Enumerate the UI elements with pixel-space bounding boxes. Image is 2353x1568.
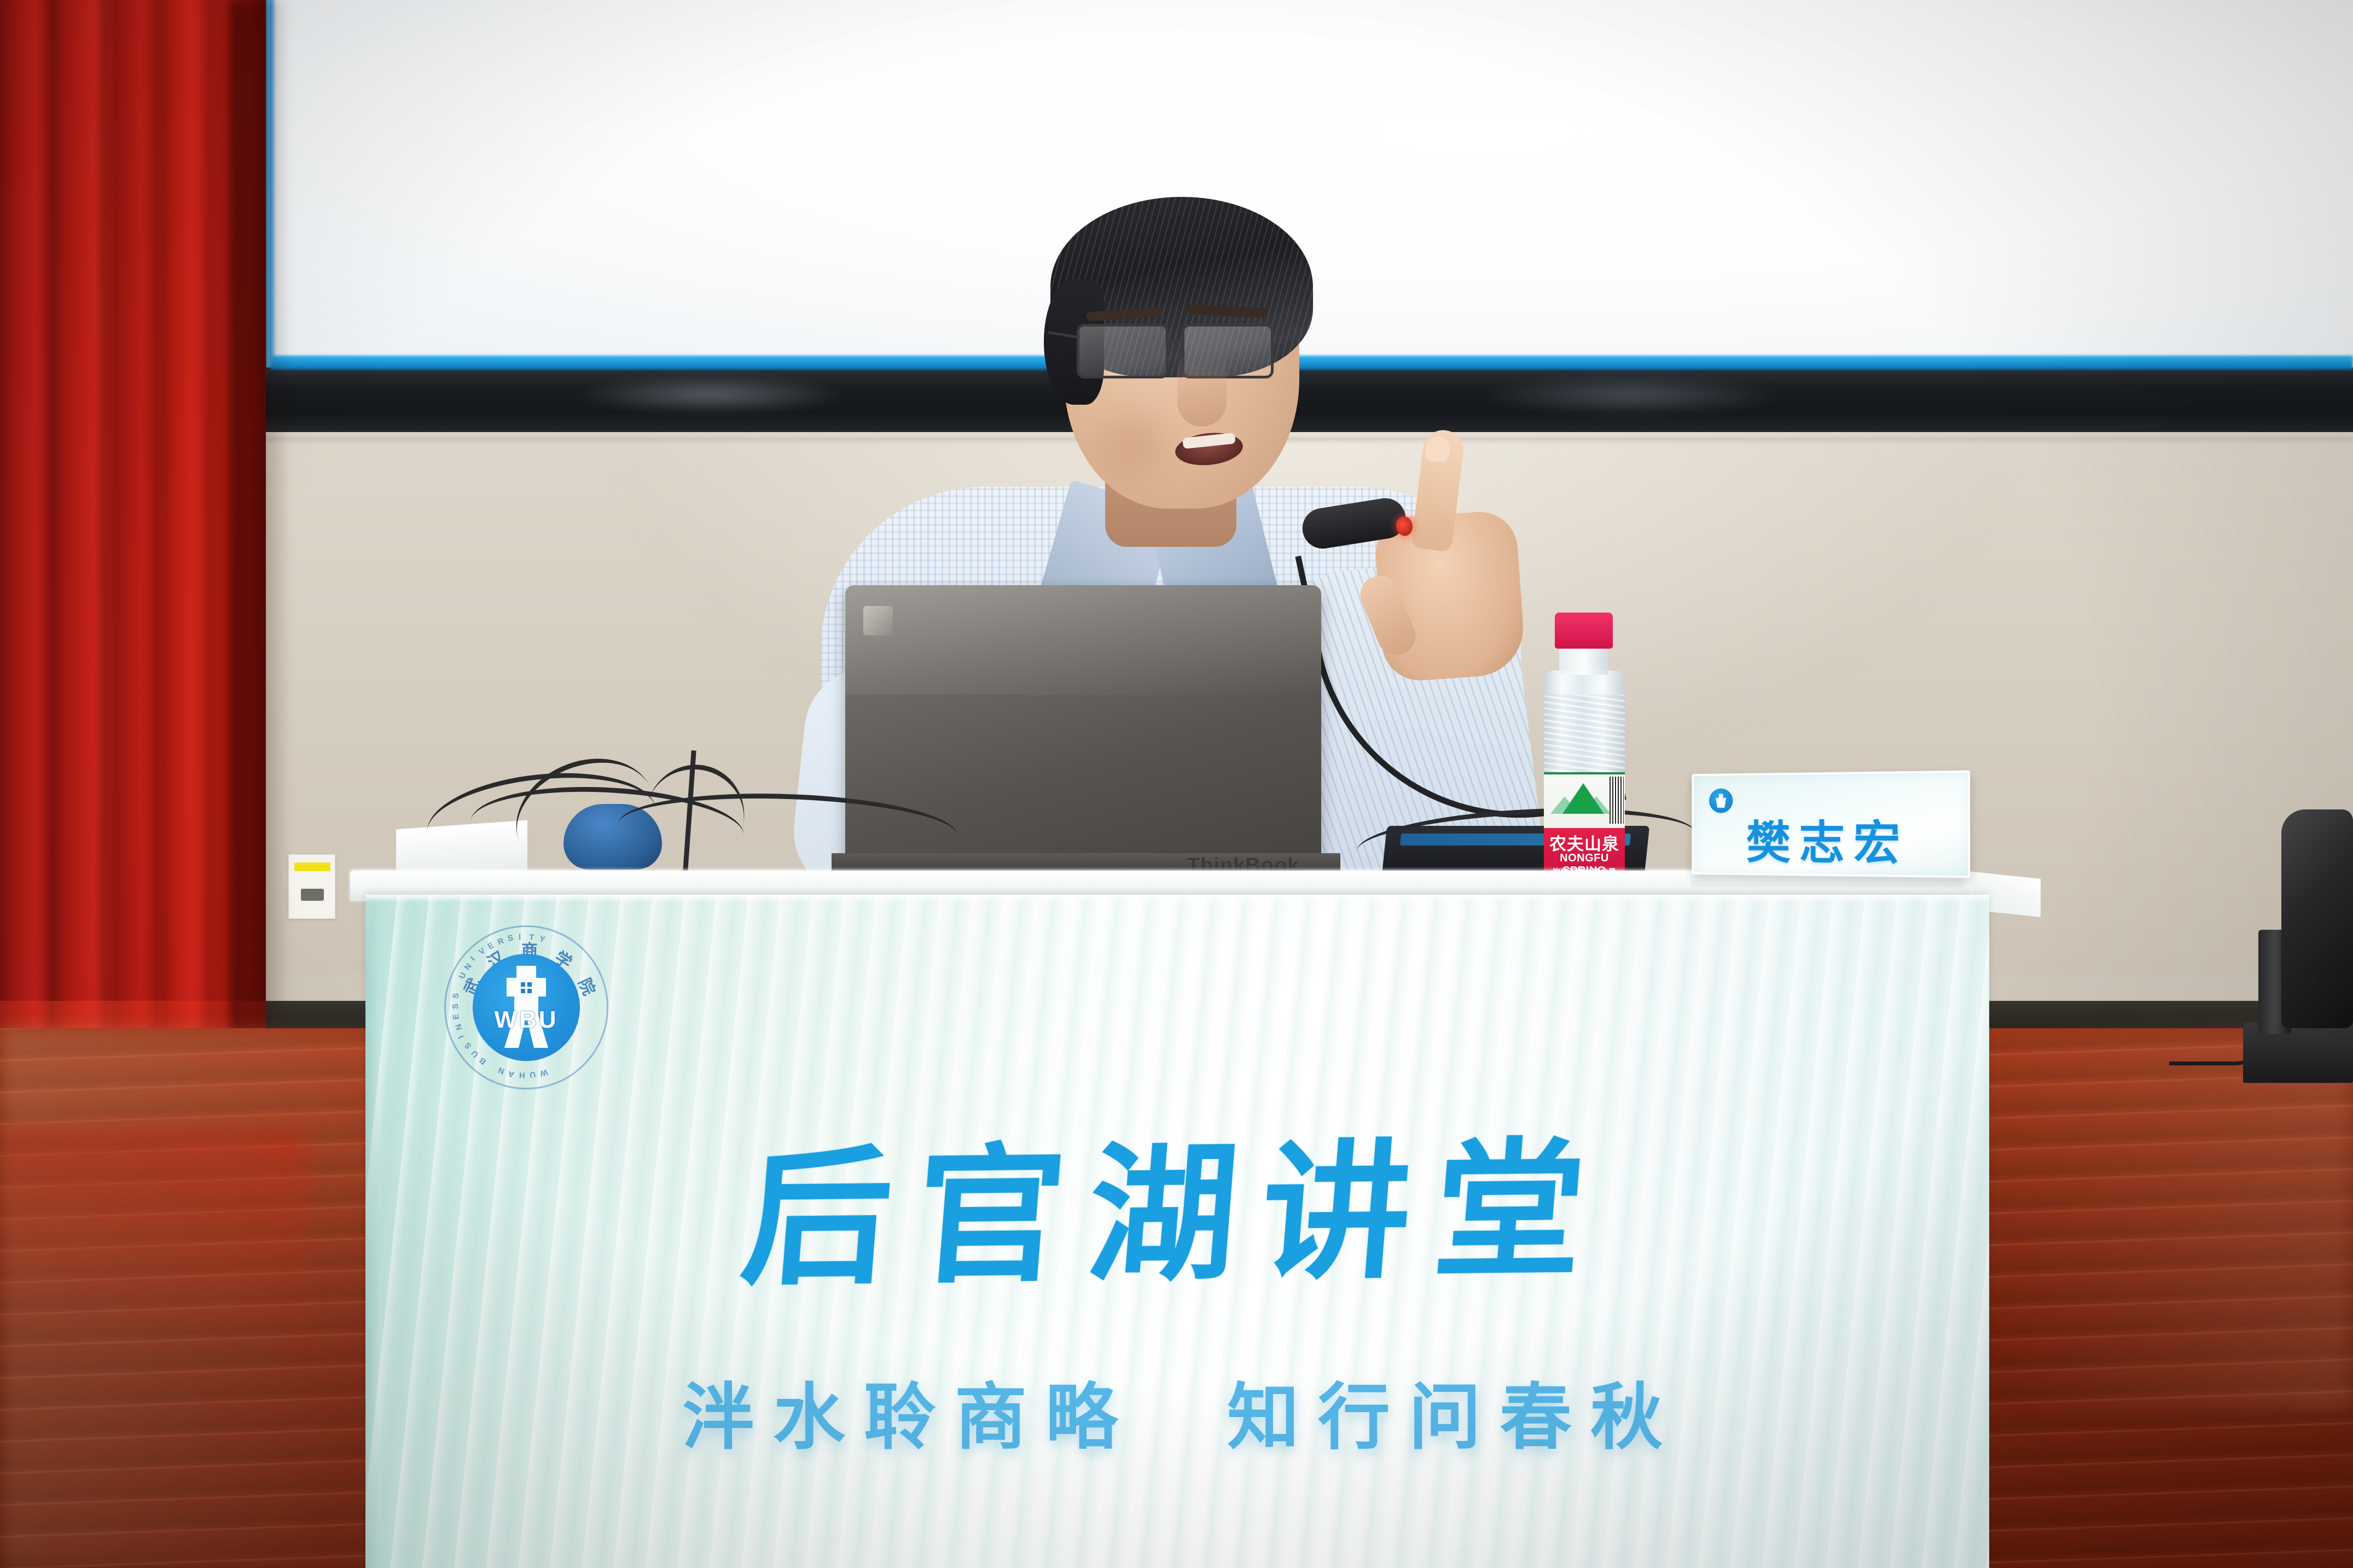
- bottle-brand-cn: 农夫山泉: [1544, 830, 1625, 855]
- lecture-scene: ThinkBook 农夫山泉 NONGFU SPRING 饮用天然水 净含量55…: [0, 0, 2353, 1568]
- speaker-nameplate: 樊志宏: [1692, 771, 1970, 878]
- bottle-cap: [1555, 613, 1613, 649]
- lenovo-logo-icon: [863, 606, 893, 636]
- curtain-folds: [0, 0, 266, 1132]
- curtain-floor-reflection: [0, 1127, 306, 1345]
- lens-left: [1077, 324, 1169, 378]
- moving-head-light-icon: [2281, 809, 2353, 1028]
- face-shadow: [1083, 394, 1182, 492]
- emblem-monogram: WBU: [494, 1006, 558, 1034]
- university-emblem: 武汉商学院 WUHAN BUSINESS UNIVERSITY WBU: [444, 925, 608, 1089]
- bottle-ribbing: [1544, 695, 1625, 782]
- wall-plate-label: [294, 862, 330, 871]
- wall-plate-port-icon: [301, 889, 324, 901]
- podium-title: 后官湖讲堂: [620, 1088, 1732, 1315]
- curtain-shadow: [230, 0, 290, 1132]
- podium-subtitle: 泮水聆商略 知行问春秋: [481, 1359, 1882, 1464]
- bottle-mountain-icon: [1562, 783, 1604, 814]
- bottle-barcode-icon: [1610, 777, 1624, 824]
- speaker-name: 樊志宏: [1694, 806, 1968, 874]
- emblem-disc: WBU: [473, 954, 580, 1061]
- glasses-bridge: [1169, 339, 1183, 342]
- av-wall-plate: [288, 854, 335, 919]
- water-bottle[interactable]: 农夫山泉 NONGFU SPRING 饮用天然水 净含量550ml: [1532, 613, 1636, 886]
- podium-left-edge-shade: [365, 895, 380, 1568]
- bottle-neck: [1559, 646, 1608, 675]
- speaker-nose: [1177, 355, 1227, 427]
- podium-top-highlight: [365, 895, 1989, 902]
- laptop-lid-reflection: [845, 585, 1321, 695]
